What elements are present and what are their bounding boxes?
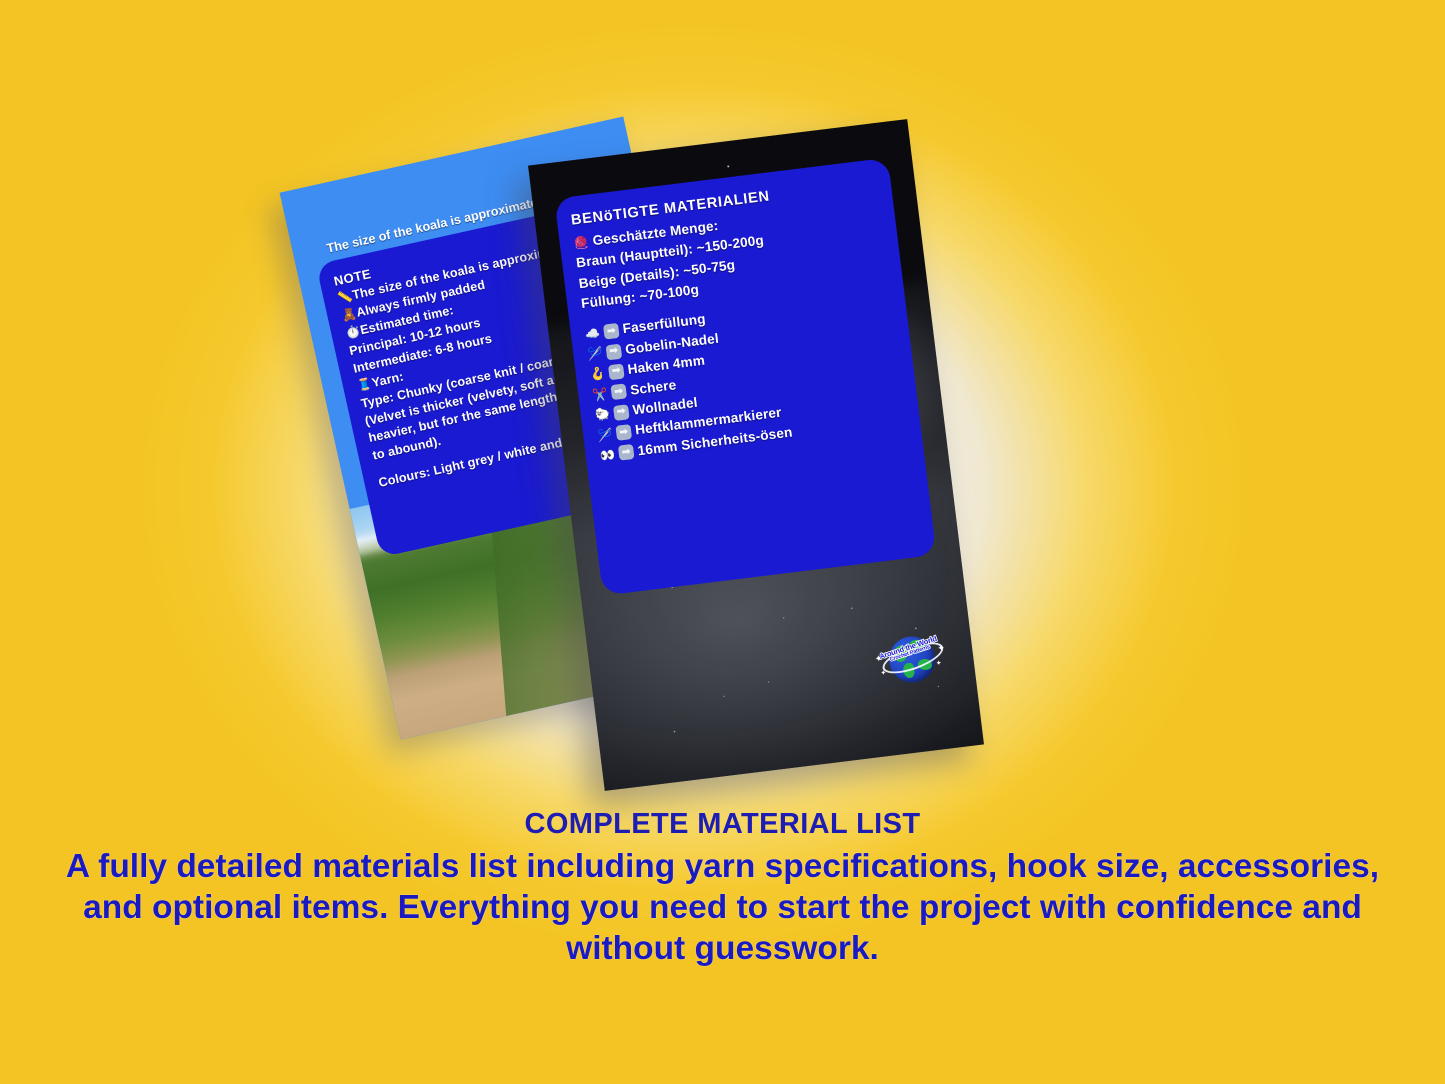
sheep-icon: 🐑 <box>594 405 611 425</box>
yarn-ball-icon: 🧶 <box>573 235 590 251</box>
materials-panel: BENöTIGTE MATERIALIEN 🧶 Geschätzte Menge… <box>554 158 936 596</box>
brand-logo: ✦ ✦ ✦ ✦ Around the World Crochet Pattern… <box>870 626 951 693</box>
caption-block: COMPLETE MATERIAL LIST A fully detailed … <box>0 808 1445 970</box>
arrow-right-icon: ➡ <box>613 404 630 421</box>
arrow-right-icon: ➡ <box>603 323 620 340</box>
cloud-icon: ☁️ <box>584 324 601 344</box>
pin-needle-icon: 🪡 <box>596 425 613 445</box>
arrow-right-icon: ➡ <box>606 343 623 360</box>
sparkle-icon: ✦ <box>936 660 943 668</box>
materials-list: ☁️ ➡ Faserfüllung 🪡 ➡ Gobelin-Nadel 🪝 ➡ … <box>584 287 909 466</box>
caption-body: A fully detailed materials list includin… <box>58 847 1388 970</box>
crochet-hook-icon: 🪝 <box>589 364 606 384</box>
caption-title: COMPLETE MATERIAL LIST <box>0 808 1445 841</box>
arrow-right-icon: ➡ <box>618 444 635 461</box>
sewing-needle-icon: 🪡 <box>586 344 603 364</box>
arrow-right-icon: ➡ <box>611 384 628 401</box>
scissors-icon: ✂️ <box>591 385 608 405</box>
arrow-right-icon: ➡ <box>616 424 633 441</box>
promo-graphic: The size of the koala is approximately 2… <box>0 0 1445 1084</box>
eyes-icon: 👀 <box>599 445 616 465</box>
arrow-right-icon: ➡ <box>608 363 625 380</box>
front-card-german: BENöTIGTE MATERIALIEN 🧶 Geschätzte Menge… <box>528 119 984 791</box>
